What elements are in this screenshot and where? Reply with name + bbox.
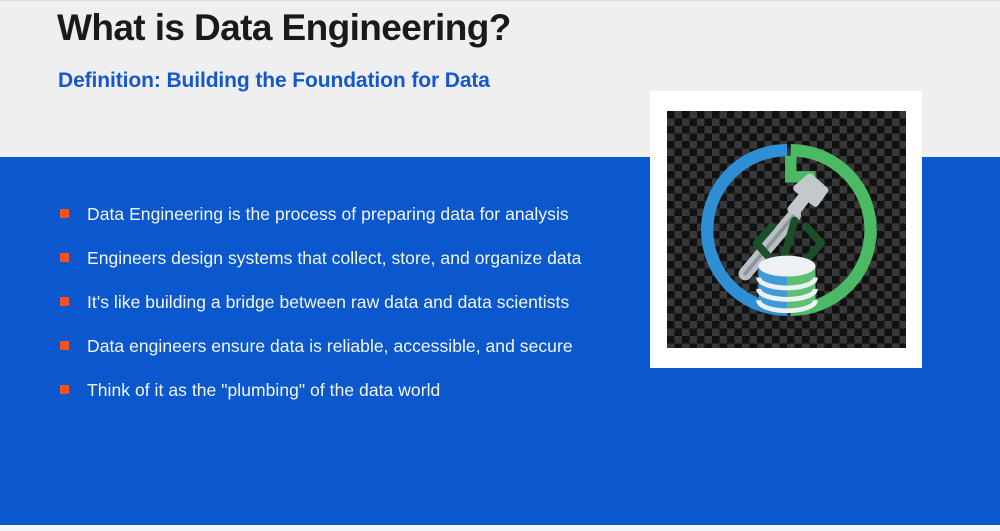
square-bullet-icon — [60, 341, 69, 350]
list-item: Engineers design systems that collect, s… — [60, 246, 630, 270]
slide-canvas: What is Data Engineering? Definition: Bu… — [0, 0, 1000, 531]
illustration-card — [650, 91, 922, 368]
page-title: What is Data Engineering? — [57, 5, 511, 50]
list-item-label: Data engineers ensure data is reliable, … — [87, 336, 573, 356]
data-engineering-icon — [692, 135, 882, 325]
list-item-label: Data Engineering is the process of prepa… — [87, 204, 569, 224]
transparency-checkerboard — [667, 111, 906, 348]
square-bullet-icon — [60, 209, 69, 218]
slide-footer-strip — [0, 525, 1000, 531]
square-bullet-icon — [60, 297, 69, 306]
database-cylinder-icon — [758, 255, 815, 310]
list-item: Data Engineering is the process of prepa… — [60, 202, 630, 226]
bullet-list: Data Engineering is the process of prepa… — [60, 202, 630, 422]
code-bracket-right-icon — [806, 226, 821, 260]
list-item: Data engineers ensure data is reliable, … — [60, 334, 630, 358]
square-bullet-icon — [60, 253, 69, 262]
square-bullet-icon — [60, 385, 69, 394]
list-item: Think of it as the "plumbing" of the dat… — [60, 378, 630, 402]
page-subtitle: Definition: Building the Foundation for … — [58, 67, 490, 94]
list-item-label: It's like building a bridge between raw … — [87, 292, 569, 312]
list-item-label: Think of it as the "plumbing" of the dat… — [87, 380, 440, 400]
db-top — [758, 255, 815, 276]
list-item: It's like building a bridge between raw … — [60, 290, 630, 314]
list-item-label: Engineers design systems that collect, s… — [87, 248, 581, 268]
